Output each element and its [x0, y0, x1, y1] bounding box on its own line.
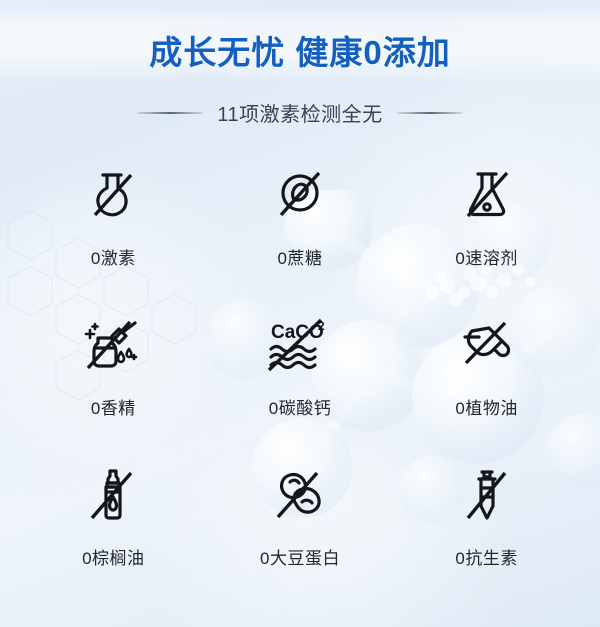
- grid-item-calcium-carbonate-free: CaCO 2 0碳酸钙: [207, 310, 394, 460]
- grid-item-label: 0碳酸钙: [269, 394, 331, 419]
- promo-page: 成长无忧 健康0添加 11项激素检测全无 0激素: [0, 0, 600, 627]
- grid-item-vegetable-oil-free: 0植物油: [393, 310, 580, 460]
- grid-item-soy-protein-free: 0大豆蛋白: [207, 460, 394, 610]
- syringe-vial-slashed-icon: [447, 460, 527, 530]
- subtitle-row: 11项激素检测全无: [0, 98, 600, 127]
- divider-line-right: [397, 112, 463, 114]
- erlenmeyer-flask-slashed-icon: [447, 160, 527, 230]
- page-header: 成长无忧 健康0添加 11项激素检测全无: [0, 0, 600, 127]
- feature-grid: 0激素 0蔗糖: [0, 160, 600, 610]
- oil-bottle-pour-slashed-icon: [447, 310, 527, 380]
- grid-item-label: 0抗生素: [455, 544, 517, 569]
- grid-item-fragrance-free: 0香精: [20, 310, 207, 460]
- page-title: 成长无忧 健康0添加: [0, 26, 600, 74]
- grid-item-label: 0香精: [91, 394, 136, 419]
- dropper-bottle-slashed-icon: [73, 310, 153, 380]
- page-subtitle: 11项激素检测全无: [217, 98, 382, 127]
- grid-item-label: 0棕榈油: [82, 544, 144, 569]
- grid-item-label: 0速溶剂: [455, 244, 517, 269]
- palm-oil-bottle-slashed-icon: [73, 460, 153, 530]
- grid-item-palm-oil-free: 0棕榈油: [20, 460, 207, 610]
- grid-item-antibiotic-free: 0抗生素: [393, 460, 580, 610]
- grid-item-label: 0蔗糖: [278, 244, 323, 269]
- grid-item-label: 0植物油: [455, 394, 517, 419]
- soybean-slashed-icon: [260, 460, 340, 530]
- caco3-water-slashed-icon: CaCO 2: [260, 310, 340, 380]
- grid-item-label: 0激素: [91, 244, 136, 269]
- sugar-circle-slashed-icon: [260, 160, 340, 230]
- divider-line-left: [137, 112, 203, 114]
- grid-item-sucrose-free: 0蔗糖: [207, 160, 394, 310]
- grid-item-instant-solvent-free: 0速溶剂: [393, 160, 580, 310]
- grid-item-label: 0大豆蛋白: [260, 544, 340, 569]
- flask-round-slashed-icon: [73, 160, 153, 230]
- grid-item-hormone-free: 0激素: [20, 160, 207, 310]
